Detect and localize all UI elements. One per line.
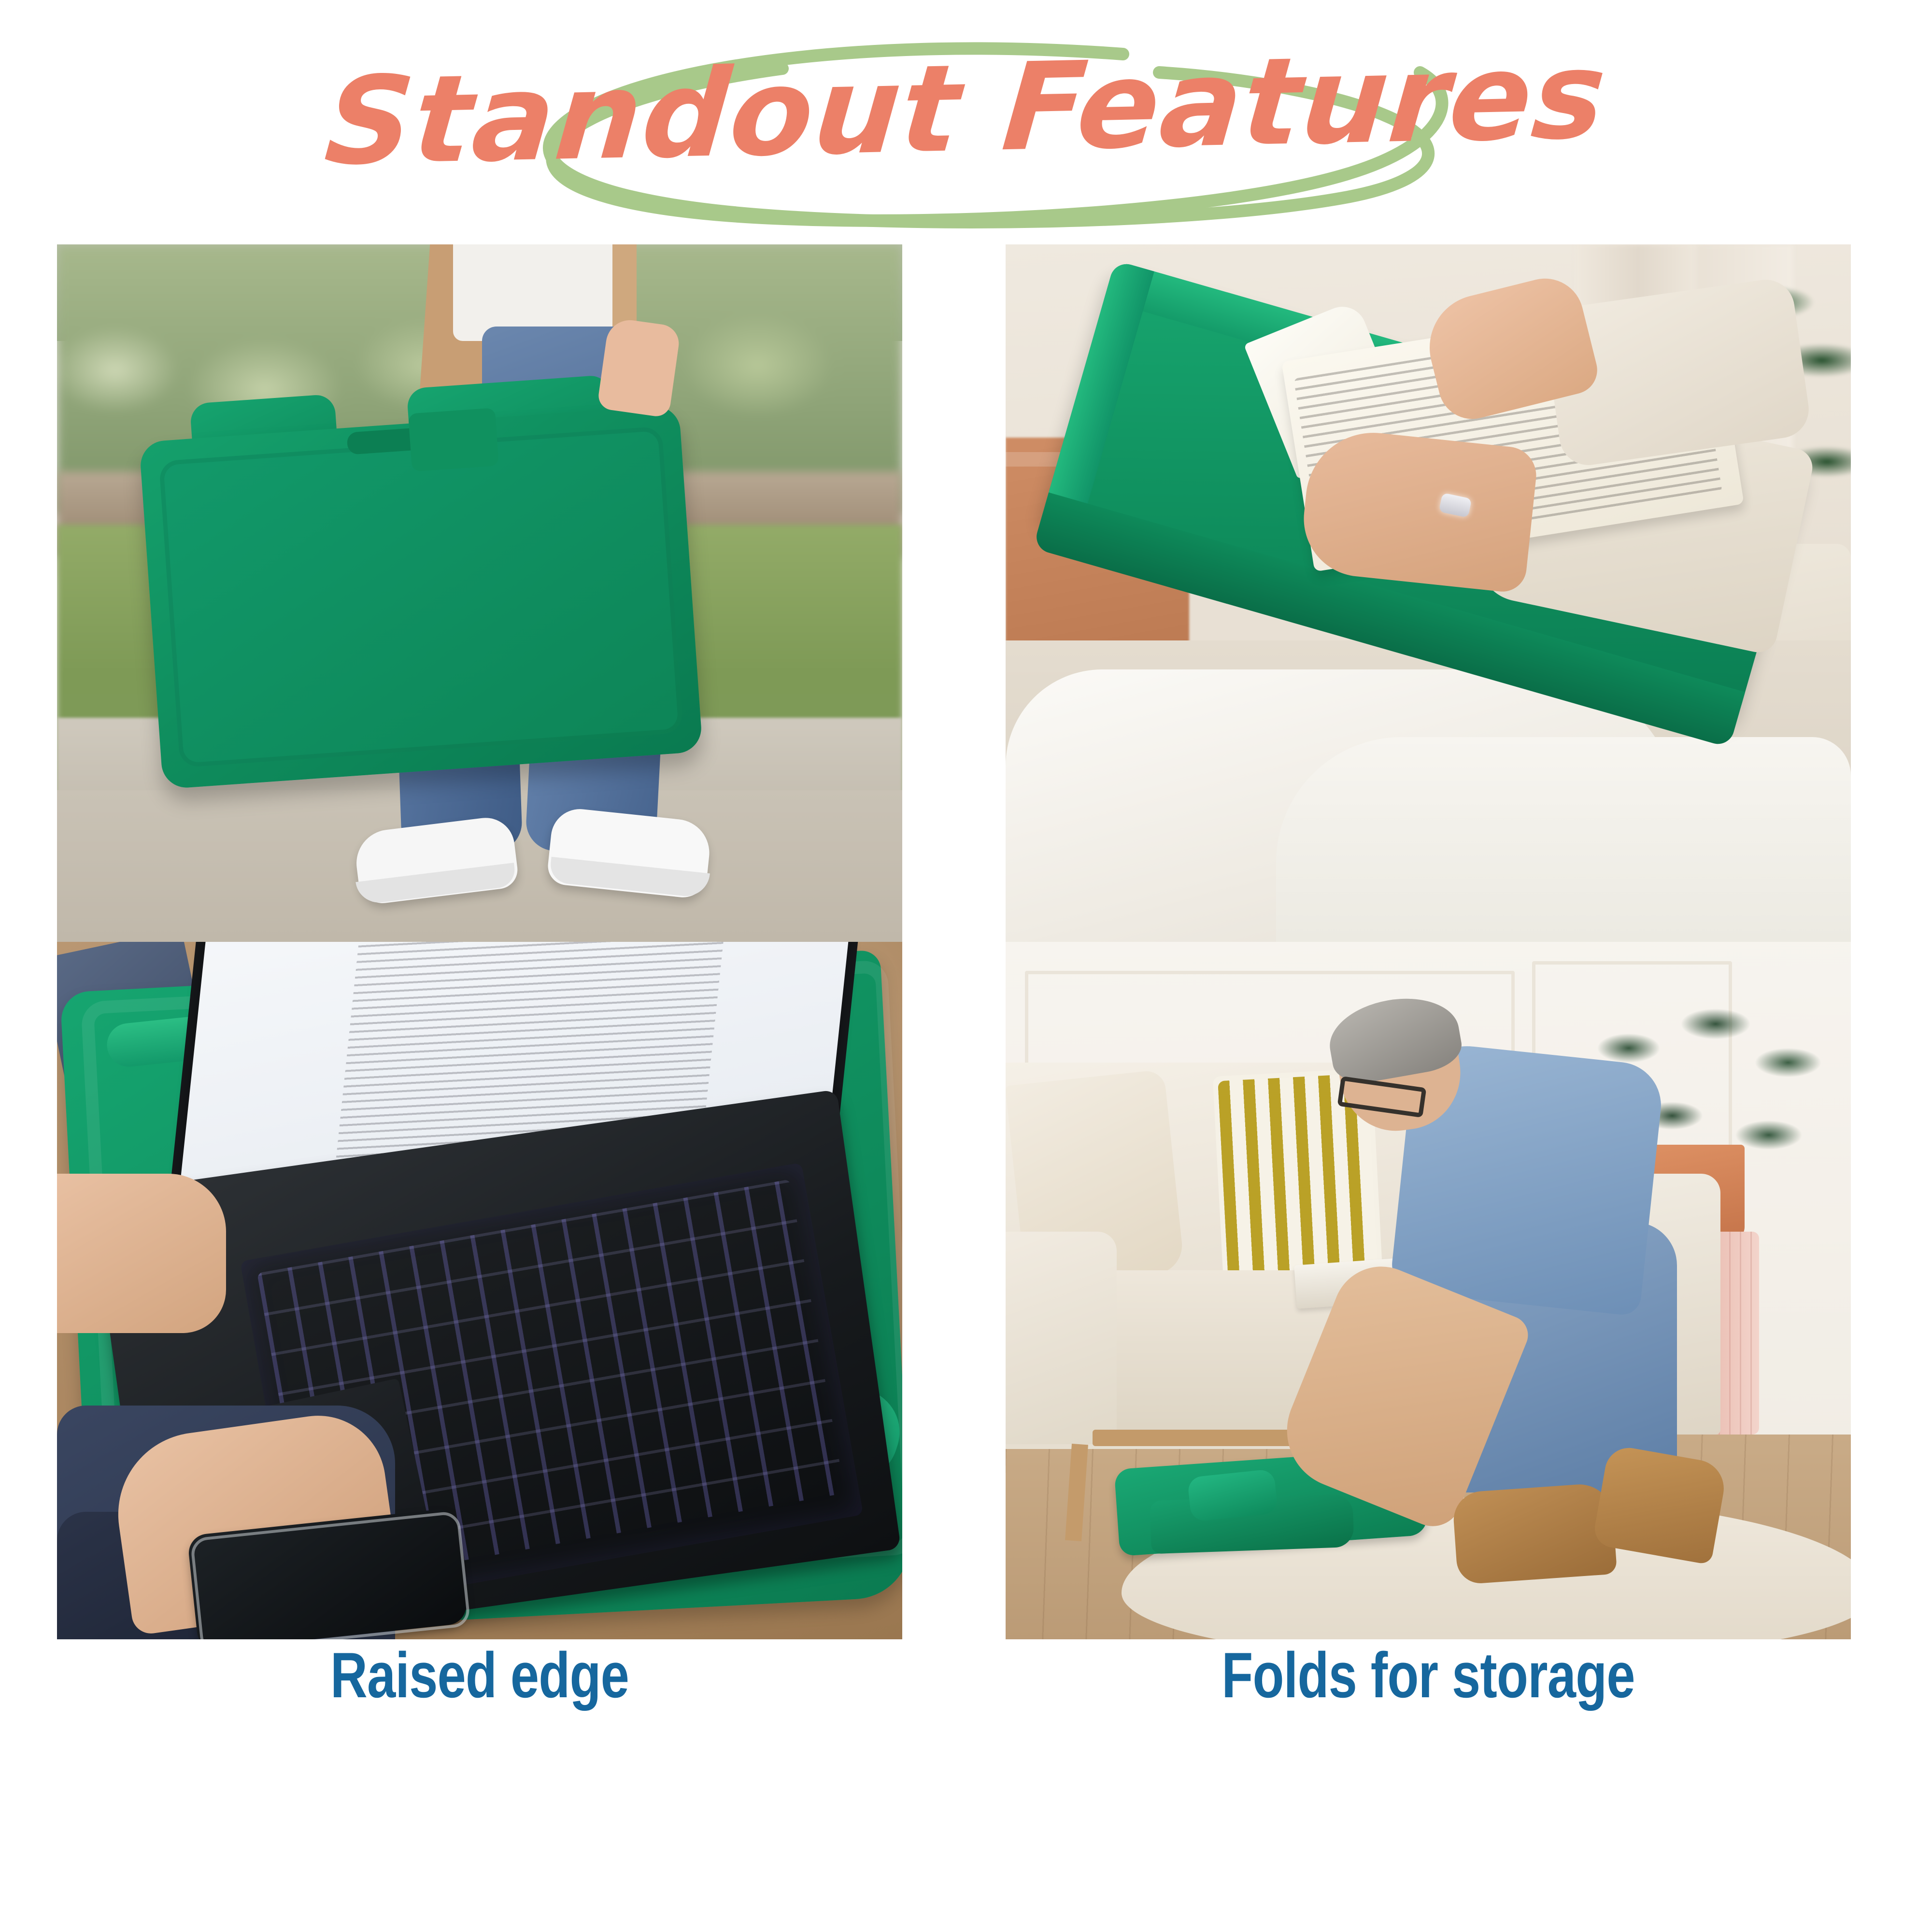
feature-card-folds-for-storage: Folds for storage [1006, 942, 1851, 1639]
left-hand [57, 1174, 226, 1333]
suede-boot-front [1452, 1482, 1617, 1585]
feature-photo-raised-edge [57, 942, 902, 1639]
feature-photo-arm-rests [1006, 244, 1851, 942]
carry-handle-grip [408, 408, 499, 471]
green-lap-desk [136, 356, 703, 789]
hand-resting-on-arm-rest [1298, 426, 1539, 594]
feature-card-raised-edge: Raised edge [57, 942, 902, 1639]
header-title-block: Standout Features [0, 0, 1932, 232]
feature-caption-raised-edge: Raised edge [142, 1643, 818, 1709]
feature-grid: Built-in carry handle [57, 244, 1851, 1838]
feature-photo-folds-for-storage [1006, 942, 1851, 1639]
feature-card-carry-handle: Built-in carry handle [57, 244, 902, 942]
lap-desk-surface [159, 426, 683, 767]
feature-caption-folds-for-storage: Folds for storage [1090, 1643, 1766, 1709]
suede-boot-back [1592, 1444, 1729, 1565]
feature-card-arm-rests: Supportive arm rests [1006, 244, 1851, 942]
hand-gripping-handle [597, 317, 682, 418]
folded-lap-desk-handle [1187, 1469, 1279, 1522]
feature-photo-carry-handle [57, 244, 902, 942]
sofa-left-arm [1006, 1232, 1117, 1444]
